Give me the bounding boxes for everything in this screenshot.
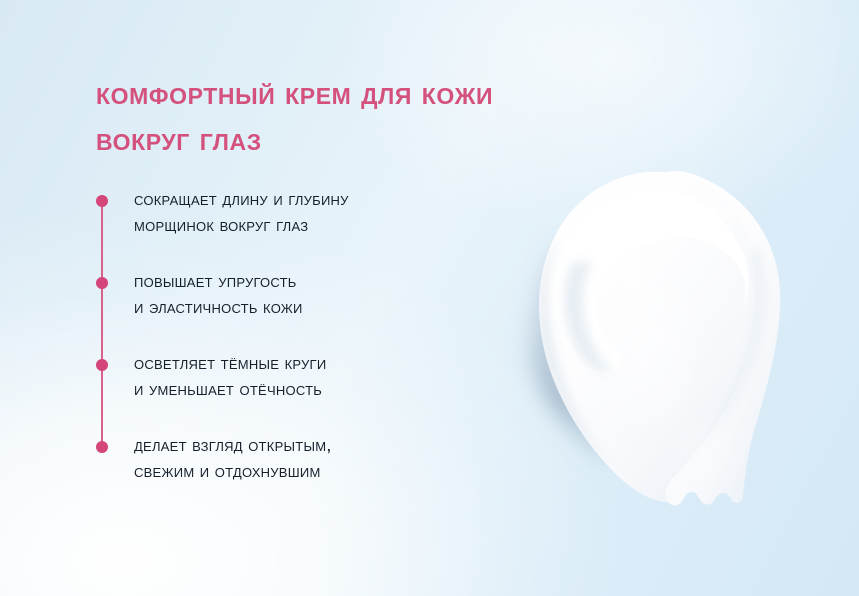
cream-swatch-image [452,150,822,520]
list-item-label: Осветляет тёмные круги и уменьшает отёчн… [134,350,466,402]
bullet-dot-icon [96,441,108,453]
bullet-dot-icon [96,195,108,207]
page-title: Комфортный крем для кожи вокруг глаз [96,70,696,162]
list-item-label: Делает взгляд открытым, свежим и отдохну… [134,432,466,484]
list-item: Осветляет тёмные круги и уменьшает отёчн… [96,350,466,410]
list-item-label: Сокращает длину и глубину морщинок вокру… [134,186,466,238]
list-item: Повышает упругость и эластичность кожи [96,268,466,328]
benefits-list: Сокращает длину и глубину морщинок вокру… [96,186,466,492]
bullet-dot-icon [96,359,108,371]
bullet-dot-icon [96,277,108,289]
slide-canvas: Комфортный крем для кожи вокруг глаз Сок… [0,0,859,596]
list-item: Сокращает длину и глубину морщинок вокру… [96,186,466,246]
list-item: Делает взгляд открытым, свежим и отдохну… [96,432,466,492]
cream-swatch-graphic [452,150,822,520]
cream-highlight-tail [668,410,736,490]
list-item-label: Повышает упругость и эластичность кожи [134,268,466,320]
